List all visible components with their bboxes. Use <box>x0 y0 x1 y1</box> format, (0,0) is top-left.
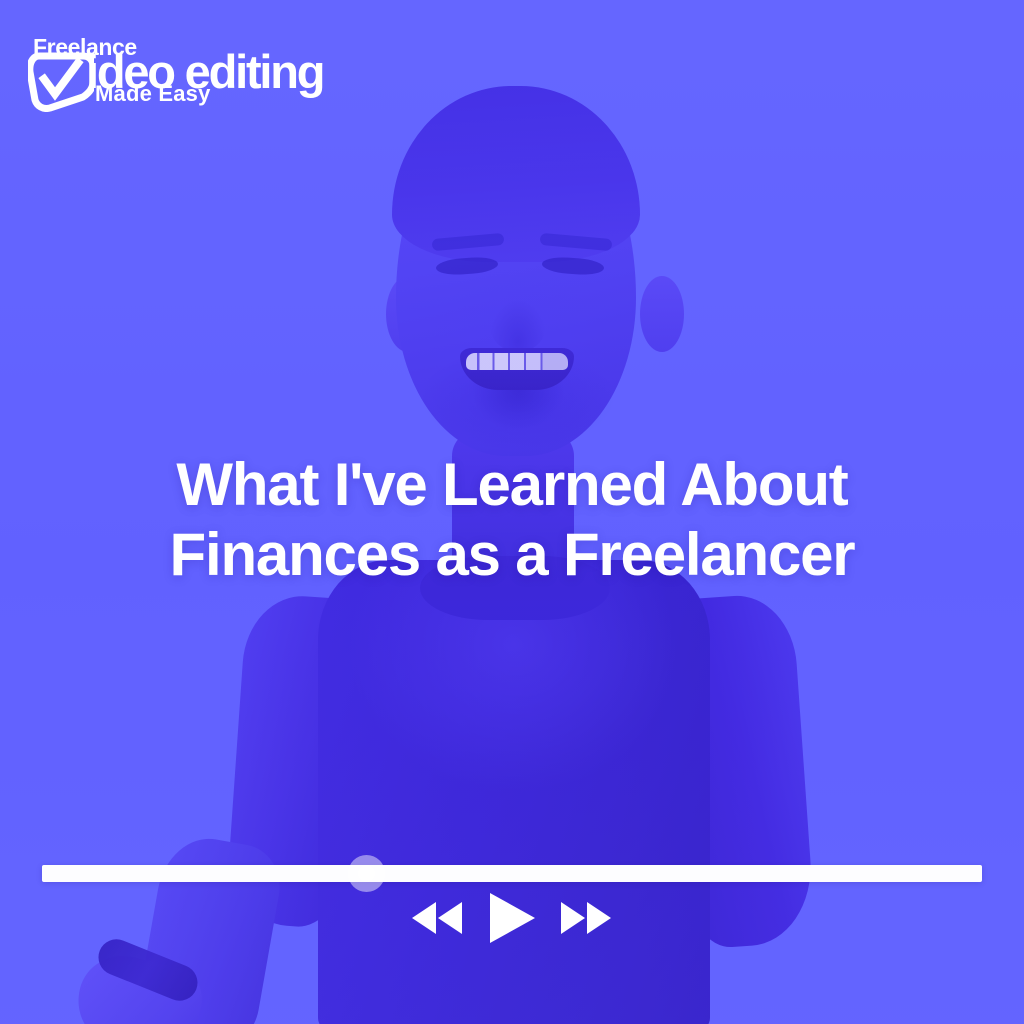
photo-mouth <box>460 348 574 390</box>
photo-teeth <box>466 353 568 370</box>
play-check-icon <box>28 52 94 112</box>
playback-scrubber[interactable] <box>348 855 385 892</box>
logo-bottom-text: Made Easy <box>95 83 211 105</box>
brand-logo[interactable]: Freelance ideo editing Made Easy <box>24 28 374 112</box>
fast-forward-icon <box>561 902 613 934</box>
fast-forward-button[interactable] <box>561 902 613 934</box>
video-thumbnail-poster: Freelance ideo editing Made Easy What I'… <box>0 0 1024 1024</box>
photo-hair <box>392 86 640 262</box>
headline-title: What I've Learned About Finances as a Fr… <box>0 450 1024 590</box>
headline-line-1: What I've Learned About <box>0 450 1024 520</box>
rewind-button[interactable] <box>412 902 464 934</box>
rewind-icon <box>412 902 464 934</box>
player-controls <box>0 893 1024 943</box>
photo-torso <box>318 560 710 1024</box>
photo-ear-right <box>640 276 684 352</box>
progress-bar[interactable] <box>42 865 982 882</box>
play-button[interactable] <box>490 893 535 943</box>
play-icon <box>490 893 535 943</box>
headline-line-2: Finances as a Freelancer <box>0 520 1024 590</box>
